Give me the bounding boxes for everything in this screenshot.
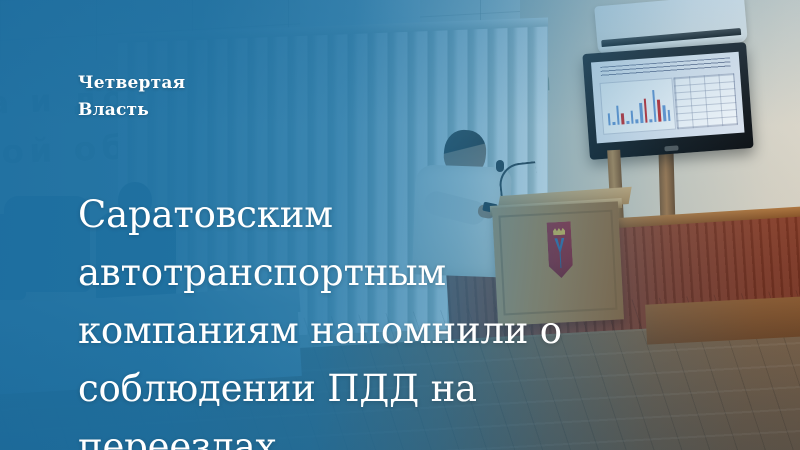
site-logo-line-2: Власть [78, 97, 185, 124]
social-share-card: а и дорожного хозяйства кой области [0, 0, 800, 450]
site-logo-line-1: Четвертая [78, 70, 185, 97]
site-logo[interactable]: Четвертая Власть [78, 70, 185, 124]
article-headline[interactable]: Саратовским автотранспортным компаниям н… [78, 186, 678, 450]
